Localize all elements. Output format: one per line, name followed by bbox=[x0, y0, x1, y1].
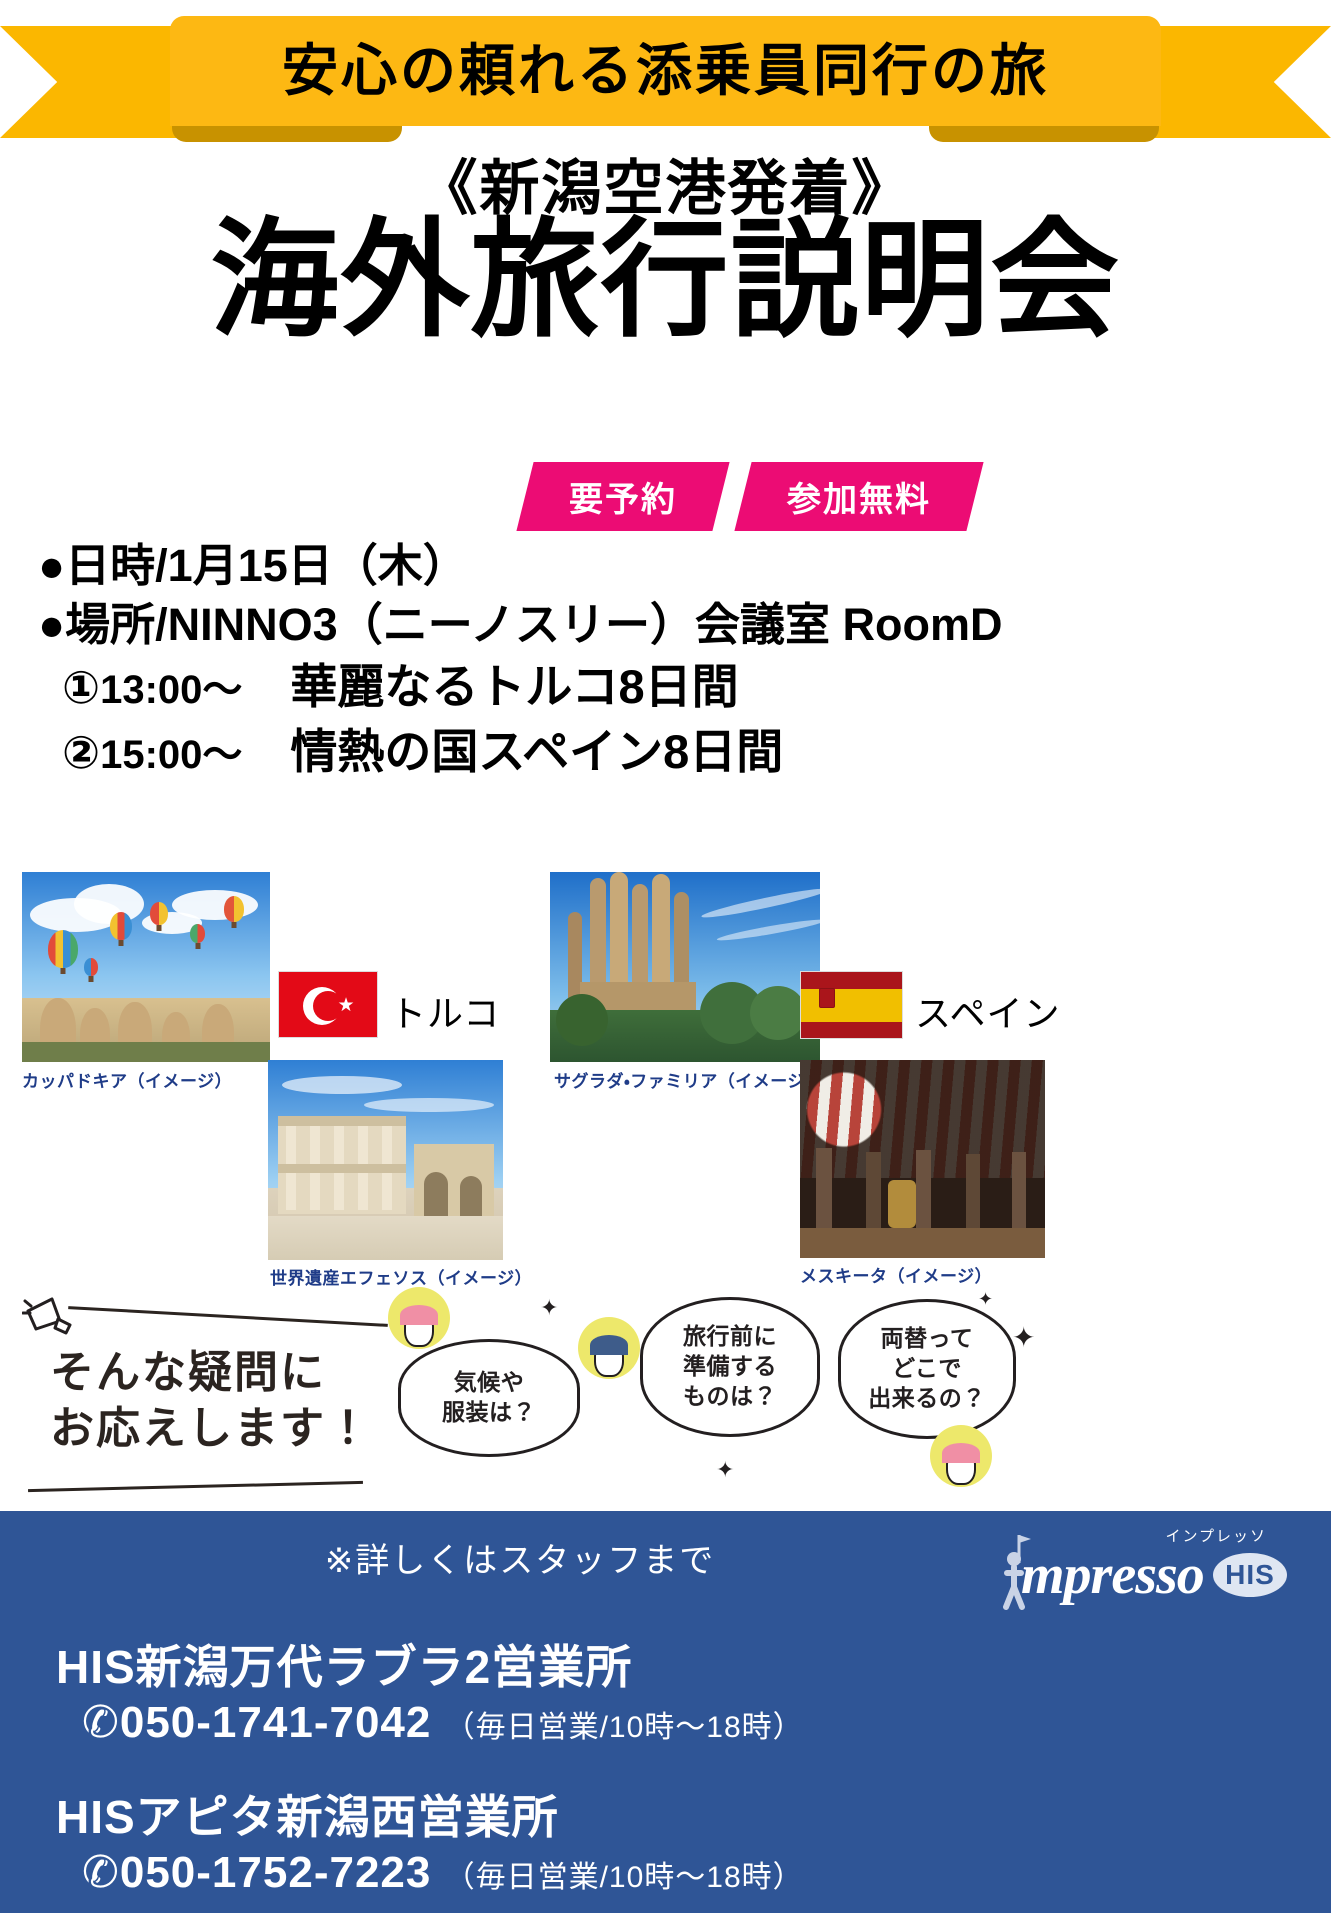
hair-icon bbox=[400, 1305, 438, 1325]
staff-note: ※詳しくはスタッフまで bbox=[0, 1533, 1040, 1582]
sparkle-icon: ✦ bbox=[978, 1289, 993, 1310]
turkey-flag-icon: ★ bbox=[278, 971, 378, 1038]
country-label-turkey: トルコ bbox=[390, 985, 500, 1037]
logo-his-badge: HIS bbox=[1213, 1553, 1287, 1597]
impresso-his-logo: インプレッソ mpresso HIS bbox=[997, 1525, 1287, 1617]
ribbon-text: 安心の頼れる添乗員同行の旅 bbox=[282, 43, 1049, 99]
photo-caption-mezquita: メスキータ（イメージ） bbox=[800, 1262, 992, 1287]
session-2: ②15:00〜情熱の国スペイン8日間 bbox=[38, 720, 1288, 785]
avatar-person-2 bbox=[578, 1317, 640, 1379]
session-number: ① bbox=[62, 662, 100, 713]
event-datetime: ●日時/1月15日（木） bbox=[38, 536, 1288, 595]
shop-info-2: HISアピタ新潟西営業所 ✆050-1752-7223 （毎日営業/10時〜18… bbox=[56, 1781, 804, 1898]
sparkle-icon: ✦ bbox=[716, 1457, 734, 1483]
event-info: ●日時/1月15日（木） ●場所/NINNO3（ニーノスリー）会議室 RoomD… bbox=[38, 536, 1288, 785]
question-bubble-2-text: 旅行前に 準備する ものは？ bbox=[683, 1322, 777, 1412]
status-badge-reservation: 要予約 bbox=[516, 462, 729, 531]
photo-cappadocia bbox=[22, 872, 270, 1062]
shop-name: HIS新潟万代ラブラ2営業所 bbox=[56, 1631, 804, 1697]
photo-sagrada bbox=[550, 872, 820, 1062]
badge-label: 参加無料 bbox=[787, 472, 931, 521]
question-bubble-3: 両替って どこで 出来るの？ bbox=[838, 1299, 1016, 1439]
session-1: ①13:00〜華麗なるトルコ8日間 bbox=[38, 655, 1288, 720]
shop-phone-number: ✆050-1741-7042 bbox=[82, 1698, 431, 1747]
logo-wordmark: mpresso bbox=[1021, 1543, 1204, 1607]
session-title: 華麗なるトルコ8日間 bbox=[290, 660, 738, 713]
question-bubble-1-text: 気候や 服装は？ bbox=[442, 1368, 536, 1428]
headline-rule-top bbox=[68, 1306, 388, 1327]
questions-section: そんな疑問に お応えします！ 気候や 服装は？ ✦ 旅行前に 準備する ものは？… bbox=[0, 1285, 1331, 1515]
ribbon-body: 安心の頼れる添乗員同行の旅 bbox=[170, 16, 1161, 126]
photo-mezquita bbox=[800, 1060, 1045, 1258]
qa-headline-line2: お応えします！ bbox=[50, 1401, 390, 1457]
sparkle-icon: ✦ bbox=[1012, 1321, 1035, 1354]
question-bubble-3-text: 両替って どこで 出来るの？ bbox=[868, 1324, 986, 1414]
event-venue: ●場所/NINNO3（ニーノスリー）会議室 RoomD bbox=[38, 595, 1288, 654]
qa-headline-line1: そんな疑問に bbox=[50, 1345, 390, 1401]
poster: 安心の頼れる添乗員同行の旅 《新潟空港発着》 海外旅行説明会 要予約 参加無料 … bbox=[0, 0, 1331, 1913]
hair-icon bbox=[942, 1443, 980, 1463]
footer: ※詳しくはスタッフまで インプレッソ mpresso HIS HIS新潟万代ラブ… bbox=[0, 1511, 1331, 1913]
question-bubble-2: 旅行前に 準備する ものは？ bbox=[640, 1297, 820, 1437]
photo-ephesus bbox=[268, 1060, 503, 1260]
page-title: 海外旅行説明会 bbox=[0, 212, 1331, 350]
avatar-person-1 bbox=[388, 1287, 450, 1349]
shop-phone[interactable]: ✆050-1752-7223 （毎日営業/10時〜18時） bbox=[56, 1847, 804, 1898]
hair-icon bbox=[590, 1335, 628, 1355]
badge-row: 要予約 参加無料 bbox=[525, 462, 975, 531]
session-number: ② bbox=[62, 727, 100, 778]
session-time: 13:00〜 bbox=[100, 668, 242, 712]
question-bubble-1: 気候や 服装は？ bbox=[398, 1339, 580, 1457]
face-icon bbox=[946, 1447, 976, 1485]
avatar-person-3 bbox=[930, 1425, 992, 1487]
shop-name: HISアピタ新潟西営業所 bbox=[56, 1781, 804, 1847]
ribbon-banner: 安心の頼れる添乗員同行の旅 bbox=[0, 8, 1331, 156]
face-icon bbox=[594, 1339, 624, 1377]
headline-rule-bottom bbox=[28, 1481, 363, 1492]
country-label-spain: スペイン bbox=[915, 985, 1060, 1037]
session-title: 情熱の国スペイン8日間 bbox=[290, 725, 783, 778]
shop-phone-number: ✆050-1752-7223 bbox=[82, 1848, 431, 1897]
badge-label: 要予約 bbox=[569, 472, 677, 521]
shop-info-1: HIS新潟万代ラブラ2営業所 ✆050-1741-7042 （毎日営業/10時〜… bbox=[56, 1631, 804, 1748]
qa-headline: そんな疑問に お応えします！ bbox=[50, 1345, 390, 1458]
photo-caption-sagrada: サグラダ・ファミリア（イメージ） bbox=[554, 1067, 822, 1092]
sparkle-icon: ✦ bbox=[540, 1295, 558, 1321]
status-badge-free: 参加無料 bbox=[734, 462, 983, 531]
session-time: 15:00〜 bbox=[100, 733, 242, 777]
spain-flag-icon bbox=[800, 971, 903, 1039]
megaphone-icon bbox=[22, 1295, 82, 1341]
shop-phone[interactable]: ✆050-1741-7042 （毎日営業/10時〜18時） bbox=[56, 1697, 804, 1748]
face-icon bbox=[404, 1309, 434, 1347]
photo-caption-cappadocia: カッパドキア（イメージ） bbox=[22, 1067, 232, 1092]
shop-hours: （毎日営業/10時〜18時） bbox=[445, 1711, 804, 1744]
shop-hours: （毎日営業/10時〜18時） bbox=[445, 1861, 804, 1894]
